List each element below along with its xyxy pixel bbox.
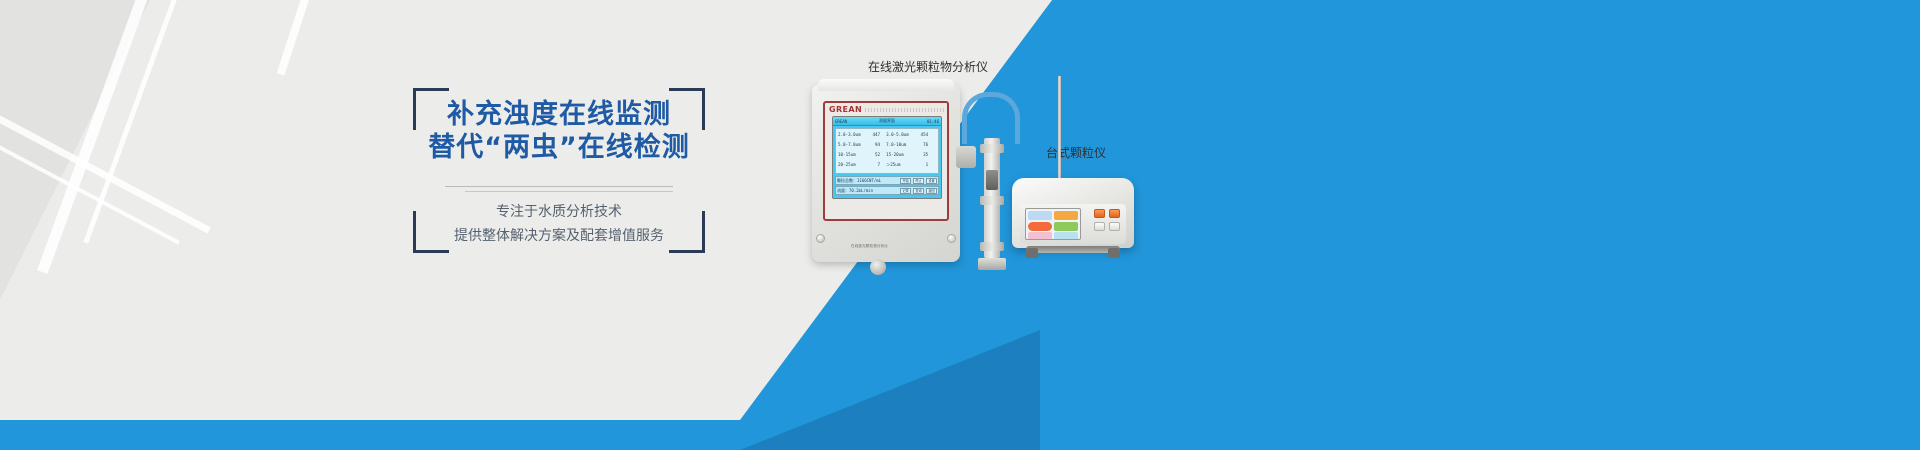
cell-count-a: 52	[866, 150, 883, 160]
cell-range-b: 3.0-5.0um	[883, 130, 912, 140]
lcd-status-row-1: 颗粒总数：1166CNT/mL 开始 停止 设置	[835, 176, 939, 185]
cell-count-b: 1	[912, 160, 928, 170]
analyzer-footer-text: 在线激光颗粒物分析仪	[851, 244, 888, 249]
sensor-base	[978, 258, 1006, 270]
display-tile	[1054, 232, 1078, 240]
lcd-button-start[interactable]: 开始	[900, 178, 911, 184]
table-row: 10-15um 52 15-20um 35	[838, 150, 936, 160]
lcd-title-center: 测量界面	[879, 118, 895, 124]
subcopy-line-1: 专注于水质分析技术	[413, 200, 705, 224]
promo-banner: 补充浊度在线监测 替代“两虫”在线检测 专注于水质分析技术 提供整体解决方案及配…	[0, 0, 1920, 450]
benchtop-foot	[1026, 248, 1038, 258]
cell-range-a: 5.0-7.0um	[838, 140, 866, 150]
display-tile	[1054, 222, 1078, 231]
table-row: 2.0-3.0um 447 3.0-5.0um 454	[838, 130, 936, 140]
subcopy: 专注于水质分析技术 提供整体解决方案及配套增值服务	[413, 200, 705, 248]
lcd-status-text-2: 流量：70.2mL/min	[837, 188, 898, 194]
display-tile	[1028, 211, 1052, 220]
cell-count-b: 35	[912, 150, 928, 160]
benchtop-particle-counter	[1012, 172, 1134, 262]
keypad-button[interactable]	[1094, 209, 1105, 218]
sensor-band	[980, 242, 1004, 251]
keypad-button[interactable]	[1109, 222, 1120, 231]
cell-range-a: 10-15um	[838, 150, 866, 160]
subcopy-line-2: 提供整体解决方案及配套增值服务	[413, 224, 705, 248]
table-row: 20-25um 7 ＞25um 1	[838, 160, 936, 170]
divider-line-top	[445, 186, 673, 187]
keypad-button[interactable]	[1109, 209, 1120, 218]
divider-group	[445, 186, 673, 192]
lcd-button-record[interactable]: 记录	[900, 188, 911, 194]
cell-count-a: 7	[866, 160, 883, 170]
sensor-band	[980, 144, 1004, 153]
keypad-button[interactable]	[1094, 222, 1105, 231]
cell-count-a: 447	[866, 130, 883, 140]
cell-range-b: ＞25um	[883, 160, 912, 170]
screw-icon	[947, 234, 956, 243]
table-row: 5.0-7.0um 94 7.0-10um 76	[838, 140, 936, 150]
analyzer-label: 在线激光颗粒物分析仪	[868, 58, 988, 75]
cell-count-b: 76	[912, 140, 928, 150]
cell-count-b: 454	[912, 130, 928, 140]
online-laser-particle-analyzer: GREAN GREAN 测量界面 01:46 2.0-3.0um 447 3.0…	[812, 84, 960, 262]
benchtop-control-face	[1020, 204, 1126, 244]
cell-range-b: 15-20um	[883, 150, 912, 160]
cell-range-a: 2.0-3.0um	[838, 130, 866, 140]
analyzer-brand: GREAN	[829, 105, 862, 114]
display-tile	[1028, 232, 1052, 240]
analyzer-lcd-screen: GREAN 测量界面 01:46 2.0-3.0um 447 3.0-5.0um…	[832, 116, 942, 199]
divider-line-bottom	[465, 191, 673, 192]
display-tile	[1028, 222, 1052, 231]
cell-count-a: 94	[866, 140, 883, 150]
headline: 补充浊度在线监测 替代“两虫”在线检测	[413, 98, 705, 164]
lcd-button-stop[interactable]: 停止	[913, 178, 924, 184]
headline-line-2: 替代“两虫”在线检测	[413, 131, 705, 164]
analyzer-brand-hatch	[865, 108, 945, 112]
lcd-status-row-2: 流量：70.2mL/min 记录 查询 返回	[835, 186, 939, 195]
lcd-data-table: 2.0-3.0um 447 3.0-5.0um 454 5.0-7.0um 94…	[835, 128, 939, 174]
benchtop-foot	[1108, 248, 1120, 258]
headline-line-1: 补充浊度在线监测	[413, 98, 705, 131]
lcd-button-query[interactable]: 查询	[913, 188, 924, 194]
headline-panel: 补充浊度在线监测 替代“两虫”在线检测 专注于水质分析技术 提供整体解决方案及配…	[413, 88, 705, 253]
benchtop-display	[1025, 208, 1081, 240]
benchtop-keypad[interactable]	[1094, 209, 1120, 231]
decor-stripe	[277, 0, 328, 76]
lcd-title-left: GREAN	[835, 119, 847, 124]
analyzer-port	[870, 259, 886, 275]
benchtop-vent-slot	[1026, 246, 1120, 253]
lcd-status-area: 颗粒总数：1166CNT/mL 开始 停止 设置 流量：70.2mL/min 记…	[835, 176, 939, 195]
screw-icon	[816, 234, 825, 243]
sensor-window	[986, 170, 998, 190]
display-tile	[1054, 211, 1078, 220]
analyzer-top-lip	[818, 79, 954, 91]
blue-tube	[962, 92, 1020, 144]
lcd-button-back[interactable]: 返回	[926, 188, 937, 194]
lcd-title-right: 01:46	[927, 119, 939, 124]
lcd-title-bar: GREAN 测量界面 01:46	[833, 117, 941, 126]
sensor-band	[980, 196, 1004, 205]
lcd-status-text-1: 颗粒总数：1166CNT/mL	[837, 178, 898, 184]
cell-range-a: 20-25um	[838, 160, 866, 170]
lcd-button-settings[interactable]: 设置	[926, 178, 937, 184]
analyzer-front-panel: GREAN GREAN 测量界面 01:46 2.0-3.0um 447 3.0…	[823, 101, 949, 221]
benchtop-label: 台式颗粒仪	[1046, 144, 1106, 161]
cell-range-b: 7.0-10um	[883, 140, 912, 150]
benchtop-antenna	[1058, 76, 1061, 180]
benchtop-shell	[1012, 178, 1134, 248]
